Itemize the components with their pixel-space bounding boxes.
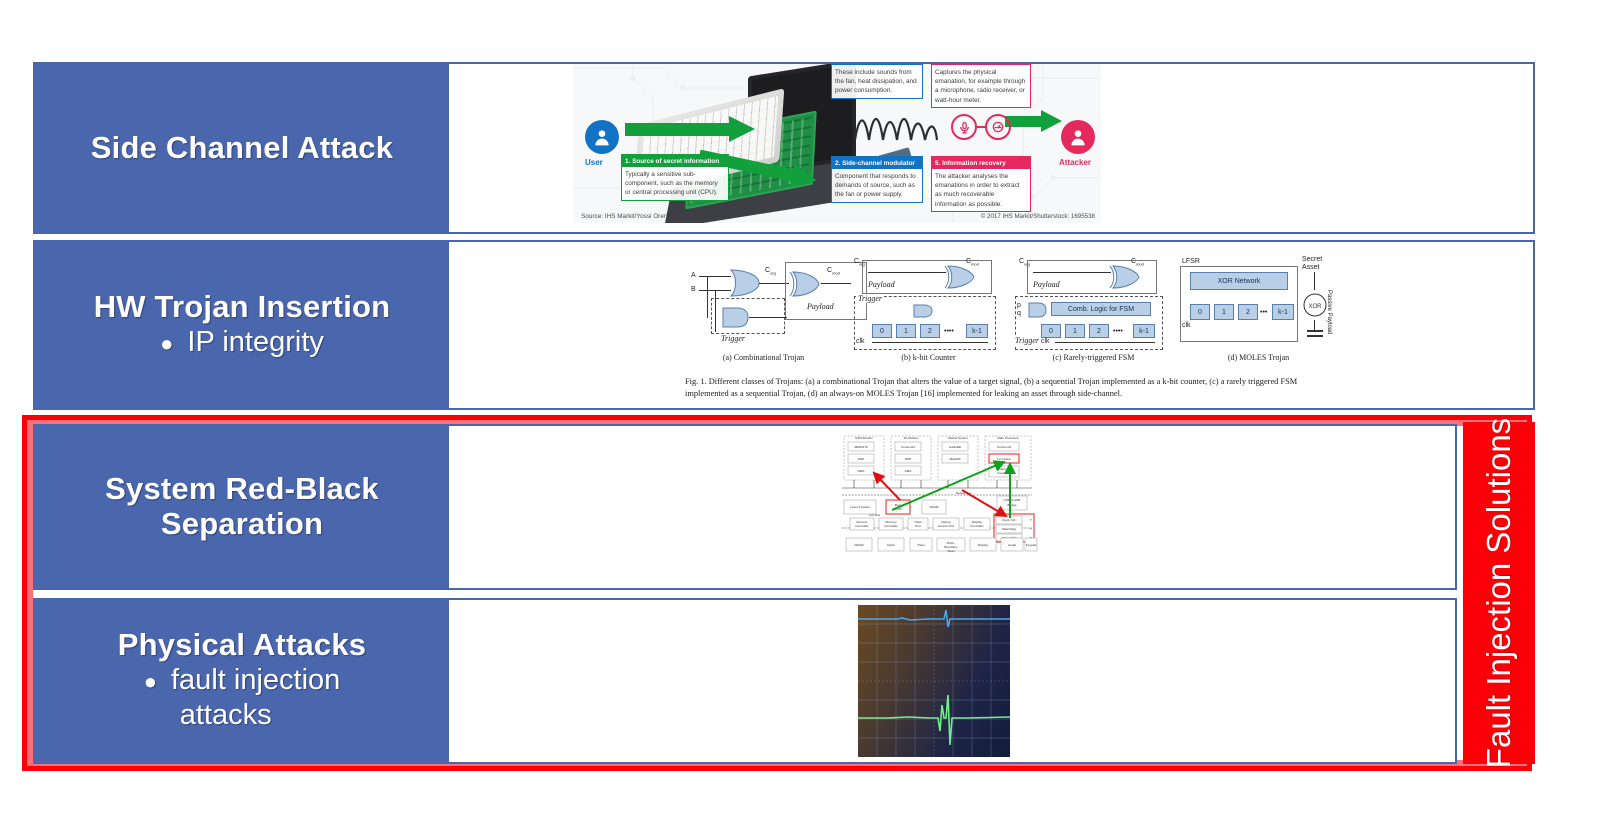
payload-label: Payload (868, 280, 895, 289)
user-label: User (585, 158, 603, 167)
and-gate-icon (729, 268, 763, 298)
row-title: Side Channel Attack (91, 131, 393, 166)
row-physical-attacks[interactable]: Physical Attacks ● fault injection attac… (33, 598, 1457, 764)
xor-network-block: XOR Network (1190, 272, 1288, 290)
watt-hour-meter-icon (985, 114, 1011, 140)
xor-gate-icon (789, 270, 823, 298)
svg-text:Bridge: Bridge (1008, 503, 1017, 507)
wire (868, 272, 946, 273)
payload-label: Payload (1033, 280, 1060, 289)
counter-bit-2: 2 (920, 324, 940, 338)
clk-wire (1055, 342, 1155, 343)
svg-text:SRAM: SRAM (930, 505, 939, 509)
counter-bit-0: 0 (1041, 324, 1061, 338)
wire (1314, 272, 1315, 290)
xor-gate-icon (944, 264, 978, 290)
counter-bit-1: 1 (896, 324, 916, 338)
svg-text:DMA: DMA (905, 469, 913, 473)
counter-bit-k: k-1 (1133, 324, 1155, 338)
svg-text:Flash: Flash (887, 543, 895, 547)
fault-injection-solutions-label: Fault Injection Solutions (1480, 418, 1518, 768)
svg-text:Display: Display (978, 543, 989, 547)
fsm-comb-logic: Comb. Logic for FSM (1051, 302, 1151, 316)
row-system-red-black-separation[interactable]: System Red-Black Separation GSM Modem (33, 424, 1457, 590)
svg-text:Controller: Controller (884, 524, 897, 528)
counter-ellipsis: ••• (1260, 309, 1267, 316)
clk-label: clk (1041, 338, 1050, 345)
callout-title: 1. Source of secret information (622, 155, 728, 167)
side-channel-infographic: Key elements of a side-channel attack (573, 64, 1101, 223)
trigger-label: Trigger (856, 294, 884, 303)
infographic-source: Source: IHS Markit/Yossi Oren (581, 213, 667, 220)
wire (707, 276, 708, 318)
wire (1314, 320, 1315, 330)
c-mod-label: Cmod (1131, 258, 1144, 266)
callout-title: 5. Information recovery (932, 157, 1030, 169)
q-input-label: q (1017, 310, 1021, 317)
callout-body: Typically a sensitive sub-component, suc… (622, 167, 728, 200)
callout-body: These include sounds from the fan, heat … (832, 65, 922, 98)
svg-text:Trace: Trace (917, 543, 925, 547)
trojan-panel-c: Corg Cmod Payload p q (1011, 250, 1176, 362)
figure-caption: Fig. 1. Different classes of Trojans: (a… (685, 376, 1337, 400)
row-content-hw-trojan-insertion: A B Corg (449, 242, 1533, 408)
clk-label: clk (856, 338, 865, 345)
row-title-line-1: System Red-Black (105, 472, 379, 507)
trojan-panels: A B Corg (681, 250, 1341, 362)
clk-wire (872, 342, 988, 343)
svg-text:Level 3 Cache: Level 3 Cache (850, 505, 870, 509)
svg-text:3G Modem: 3G Modem (903, 436, 919, 440)
row-content-physical-attacks (449, 600, 1455, 762)
fault-injection-solutions-banner[interactable]: Fault Injection Solutions (1463, 422, 1535, 764)
cap-plate (1307, 335, 1323, 337)
panel-caption: (b) k-bit Counter (846, 353, 1011, 362)
svg-text:Port: Port (915, 524, 921, 528)
callout-3: 3. Physical emanations These include sou… (831, 64, 923, 99)
trigger-label: Trigger (721, 334, 745, 343)
row-label-system-red-black-separation: System Red-Black Separation (35, 426, 449, 588)
svg-text:ARM1176: ARM1176 (854, 445, 868, 449)
user-avatar (585, 120, 619, 154)
callout-4: 4. Side-channel receiver Captures the ph… (931, 64, 1031, 108)
and-gate-icon (1027, 302, 1047, 318)
svg-text:DSP: DSP (905, 457, 911, 461)
svg-text:Controller: Controller (970, 524, 983, 528)
counter-bit-0: 0 (1190, 304, 1210, 320)
callout-1: 1. Source of secret information Typicall… (621, 154, 729, 201)
secret-flow-arrow-3-icon (1005, 110, 1061, 132)
counter-bit-1: 1 (1214, 304, 1234, 320)
oscilloscope-trace (858, 605, 1010, 757)
slide-canvas: Side Channel Attack Key elements of a si… (0, 0, 1600, 814)
row-content-system-red-black-separation: GSM Modem 3G Modem Media System Main Pro… (449, 426, 1455, 588)
svg-text:DRAM: DRAM (854, 543, 864, 547)
attacker-avatar (1061, 120, 1095, 154)
and-gate-icon (721, 306, 751, 330)
trojan-panel-d: LFSR XOR Network 0 1 2 ••• k-1 clk Secre… (1176, 250, 1341, 362)
row-bullet-continuation: attacks (144, 698, 272, 733)
callout-body: Captures the physical emanation, for exa… (932, 65, 1030, 107)
callout-2: 2. Side-channel modulator Component that… (831, 156, 923, 203)
svg-text:Controller: Controller (997, 471, 1010, 475)
svg-text:Media System: Media System (948, 436, 968, 440)
callout-body: Component that responds to demands of so… (832, 169, 922, 202)
xor-gate-icon (1109, 264, 1143, 290)
row-title: Physical Attacks (118, 628, 366, 663)
svg-text:Mali200: Mali200 (950, 457, 961, 461)
c-mod-label: Cmod (966, 258, 979, 266)
row-bullet: ● fault injection (144, 663, 341, 698)
row-label-physical-attacks: Physical Attacks ● fault injection attac… (35, 600, 449, 762)
panel-caption: (d) MOLES Trojan (1176, 353, 1341, 362)
counter-bit-k: k-1 (966, 324, 988, 338)
counter-bit-1: 1 (1065, 324, 1085, 338)
counter-ellipsis: •••• (944, 328, 954, 335)
secret-flow-arrow-1-icon (625, 116, 755, 142)
row-side-channel-attack[interactable]: Side Channel Attack Key elements of a si… (33, 62, 1535, 234)
microphone-icon (951, 114, 977, 140)
counter-bit-2: 2 (1089, 324, 1109, 338)
svg-text:Keypad: Keypad (1026, 543, 1037, 547)
cap-plate (1307, 330, 1323, 332)
svg-text:T: T (1030, 518, 1032, 522)
infographic-copyright: © 2017 IHS Markit/Shutterstock: 1695538 (981, 213, 1095, 220)
svg-text:XOR: XOR (1308, 304, 1322, 310)
trojan-panel-b: Corg Cmod Payload Trigger (846, 250, 1011, 362)
secret-asset-label: SecretAsset (1302, 256, 1328, 273)
svg-text:Cortex-R4: Cortex-R4 (901, 445, 915, 449)
svg-text:Aerial: Aerial (1008, 543, 1016, 547)
callout-body: The attacker analyses the emanations in … (932, 169, 1030, 211)
infographic-body: Secret information Us (573, 64, 1101, 223)
counter-bit-k: k-1 (1272, 304, 1294, 320)
svg-text:AudioDE: AudioDE (949, 445, 961, 449)
payload-label: Payload (807, 302, 834, 311)
svg-text:Scan: Scan (947, 549, 954, 553)
emanation-waveform-icon (853, 110, 939, 144)
attacker-label: Attacker (1059, 158, 1091, 167)
svg-text:GSM Modem: GSM Modem (855, 436, 874, 440)
row-bullet-label: IP integrity (187, 325, 323, 360)
p-input-label: p (1017, 302, 1021, 309)
row-bullet-label: fault injection (171, 663, 340, 698)
svg-text:L2 Cache: L2 Cache (997, 457, 1011, 461)
input-b-label: B (691, 286, 696, 293)
svg-text:Clock Ctrl.: Clock Ctrl. (1002, 518, 1016, 522)
svg-text:Watchdog: Watchdog (1002, 527, 1016, 531)
soc-block-diagram: GSM Modem 3G Modem Media System Main Pro… (834, 428, 1039, 580)
trojan-classes-diagram: A B Corg (681, 250, 1341, 400)
callout-title: 2. Side-channel modulator (832, 157, 922, 169)
svg-text:Cortex-A9: Cortex-A9 (997, 445, 1011, 449)
c-org-label: Corg (765, 267, 776, 275)
clk-label: clk (1182, 322, 1191, 329)
bullet-dot-icon: ● (160, 333, 173, 355)
bullet-dot-icon: ● (144, 671, 157, 693)
c-mod-label: Cmod (827, 267, 840, 275)
panel-caption: (c) Rarely-triggered FSM (1011, 353, 1176, 362)
trigger-label: Trigger (1015, 336, 1039, 345)
input-a-label: A (691, 272, 696, 279)
row-title-line-2: Separation (161, 507, 323, 542)
lfsr-label: LFSR (1182, 258, 1200, 265)
counter-ellipsis: •••• (1113, 328, 1123, 335)
row-label-hw-trojan-insertion: HW Trojan Insertion ● IP integrity (35, 242, 449, 408)
row-label-side-channel-attack: Side Channel Attack (35, 64, 449, 232)
row-content-side-channel-attack: Key elements of a side-channel attack (449, 64, 1533, 232)
svg-text:Access Port: Access Port (938, 524, 955, 528)
panel-caption: (a) Combinational Trojan (681, 353, 846, 362)
svg-text:AHB to APB: AHB to APB (1004, 498, 1021, 502)
passive-payload-label: Passive Payload (1326, 290, 1332, 334)
svg-text:DSP: DSP (858, 457, 864, 461)
svg-text:T: T (1030, 527, 1032, 531)
and-gate-icon (912, 304, 934, 318)
row-bullet: ● IP integrity (160, 325, 324, 360)
scope-svg (858, 605, 1010, 757)
svg-text:DMA: DMA (858, 469, 866, 473)
svg-text:Controller: Controller (855, 524, 868, 528)
row-bullets: ● fault injection attacks (144, 663, 341, 734)
wire (1033, 272, 1111, 273)
wire (699, 276, 731, 277)
counter-bit-0: 0 (872, 324, 892, 338)
callout-5: 5. Information recovery The attacker ana… (931, 156, 1031, 212)
row-hw-trojan-insertion[interactable]: HW Trojan Insertion ● IP integrity A B (33, 240, 1535, 410)
counter-bit-2: 2 (1238, 304, 1258, 320)
svg-text:Main Processor: Main Processor (997, 436, 1019, 440)
soc-diagram-svg: GSM Modem 3G Modem Media System Main Pro… (834, 428, 1039, 580)
row-title: HW Trojan Insertion (94, 290, 391, 325)
trojan-panel-a: A B Corg (681, 250, 846, 362)
wire (749, 317, 787, 318)
